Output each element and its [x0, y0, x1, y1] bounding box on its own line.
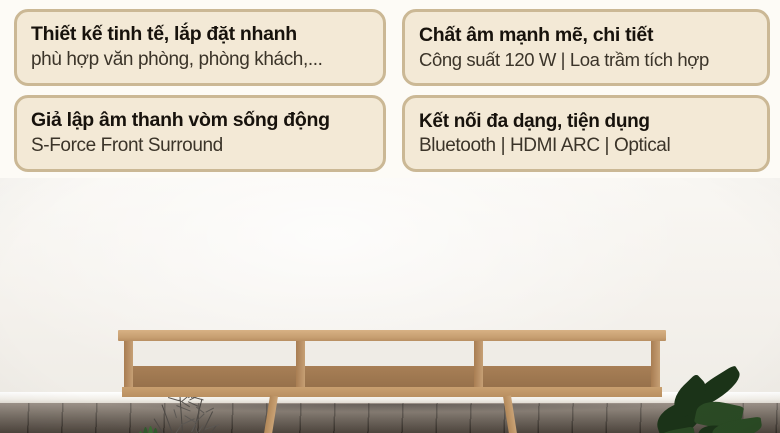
potted-shrub [121, 425, 179, 433]
twig-tip [195, 428, 197, 433]
product-lifestyle-photo: SONY DOLBYDTSHDMIBT [0, 178, 780, 433]
console-bottom-panel [122, 387, 662, 397]
shrub-foliage [123, 425, 177, 433]
feature-box-sound-quality: Chất âm mạnh mẽ, chi tiết Công suất 120 … [402, 9, 770, 86]
feature-box-surround: Giả lập âm thanh vòm sống động S-Force F… [14, 95, 386, 172]
console-side-left [124, 341, 133, 388]
console-shelf-3 [483, 366, 651, 388]
feature-title: Giả lập âm thanh vòm sống động [31, 109, 371, 133]
shrub-sprig [152, 428, 159, 433]
feature-title: Kết nối đa dạng, tiện dụng [419, 110, 755, 133]
console-shelf-1 [133, 366, 296, 388]
product-feature-banner: Thiết kế tinh tế, lắp đặt nhanh phù hợp … [0, 0, 780, 433]
feature-subtitle: Bluetooth | HDMI ARC | Optical [419, 134, 755, 158]
console-divider-1 [296, 341, 305, 388]
feature-title: Thiết kế tinh tế, lắp đặt nhanh [31, 23, 371, 47]
large-leafy-plant [640, 368, 770, 433]
feature-highlights: Thiết kế tinh tế, lắp đặt nhanh phù hợp … [0, 0, 780, 180]
feature-subtitle: Công suất 120 W | Loa trầm tích hợp [419, 48, 755, 71]
tv-console [118, 330, 666, 408]
feature-box-connectivity: Kết nối đa dạng, tiện dụng Bluetooth | H… [402, 95, 770, 172]
console-divider-2 [474, 341, 483, 388]
feature-subtitle: S-Force Front Surround [31, 134, 371, 158]
feature-title: Chất âm mạnh mẽ, chi tiết [419, 24, 755, 48]
console-top-surface [118, 330, 666, 341]
console-shelf-2 [305, 366, 474, 388]
feature-subtitle: phù hợp văn phòng, phòng khách,... [31, 48, 371, 72]
feature-box-design: Thiết kế tinh tế, lắp đặt nhanh phù hợp … [14, 9, 386, 86]
